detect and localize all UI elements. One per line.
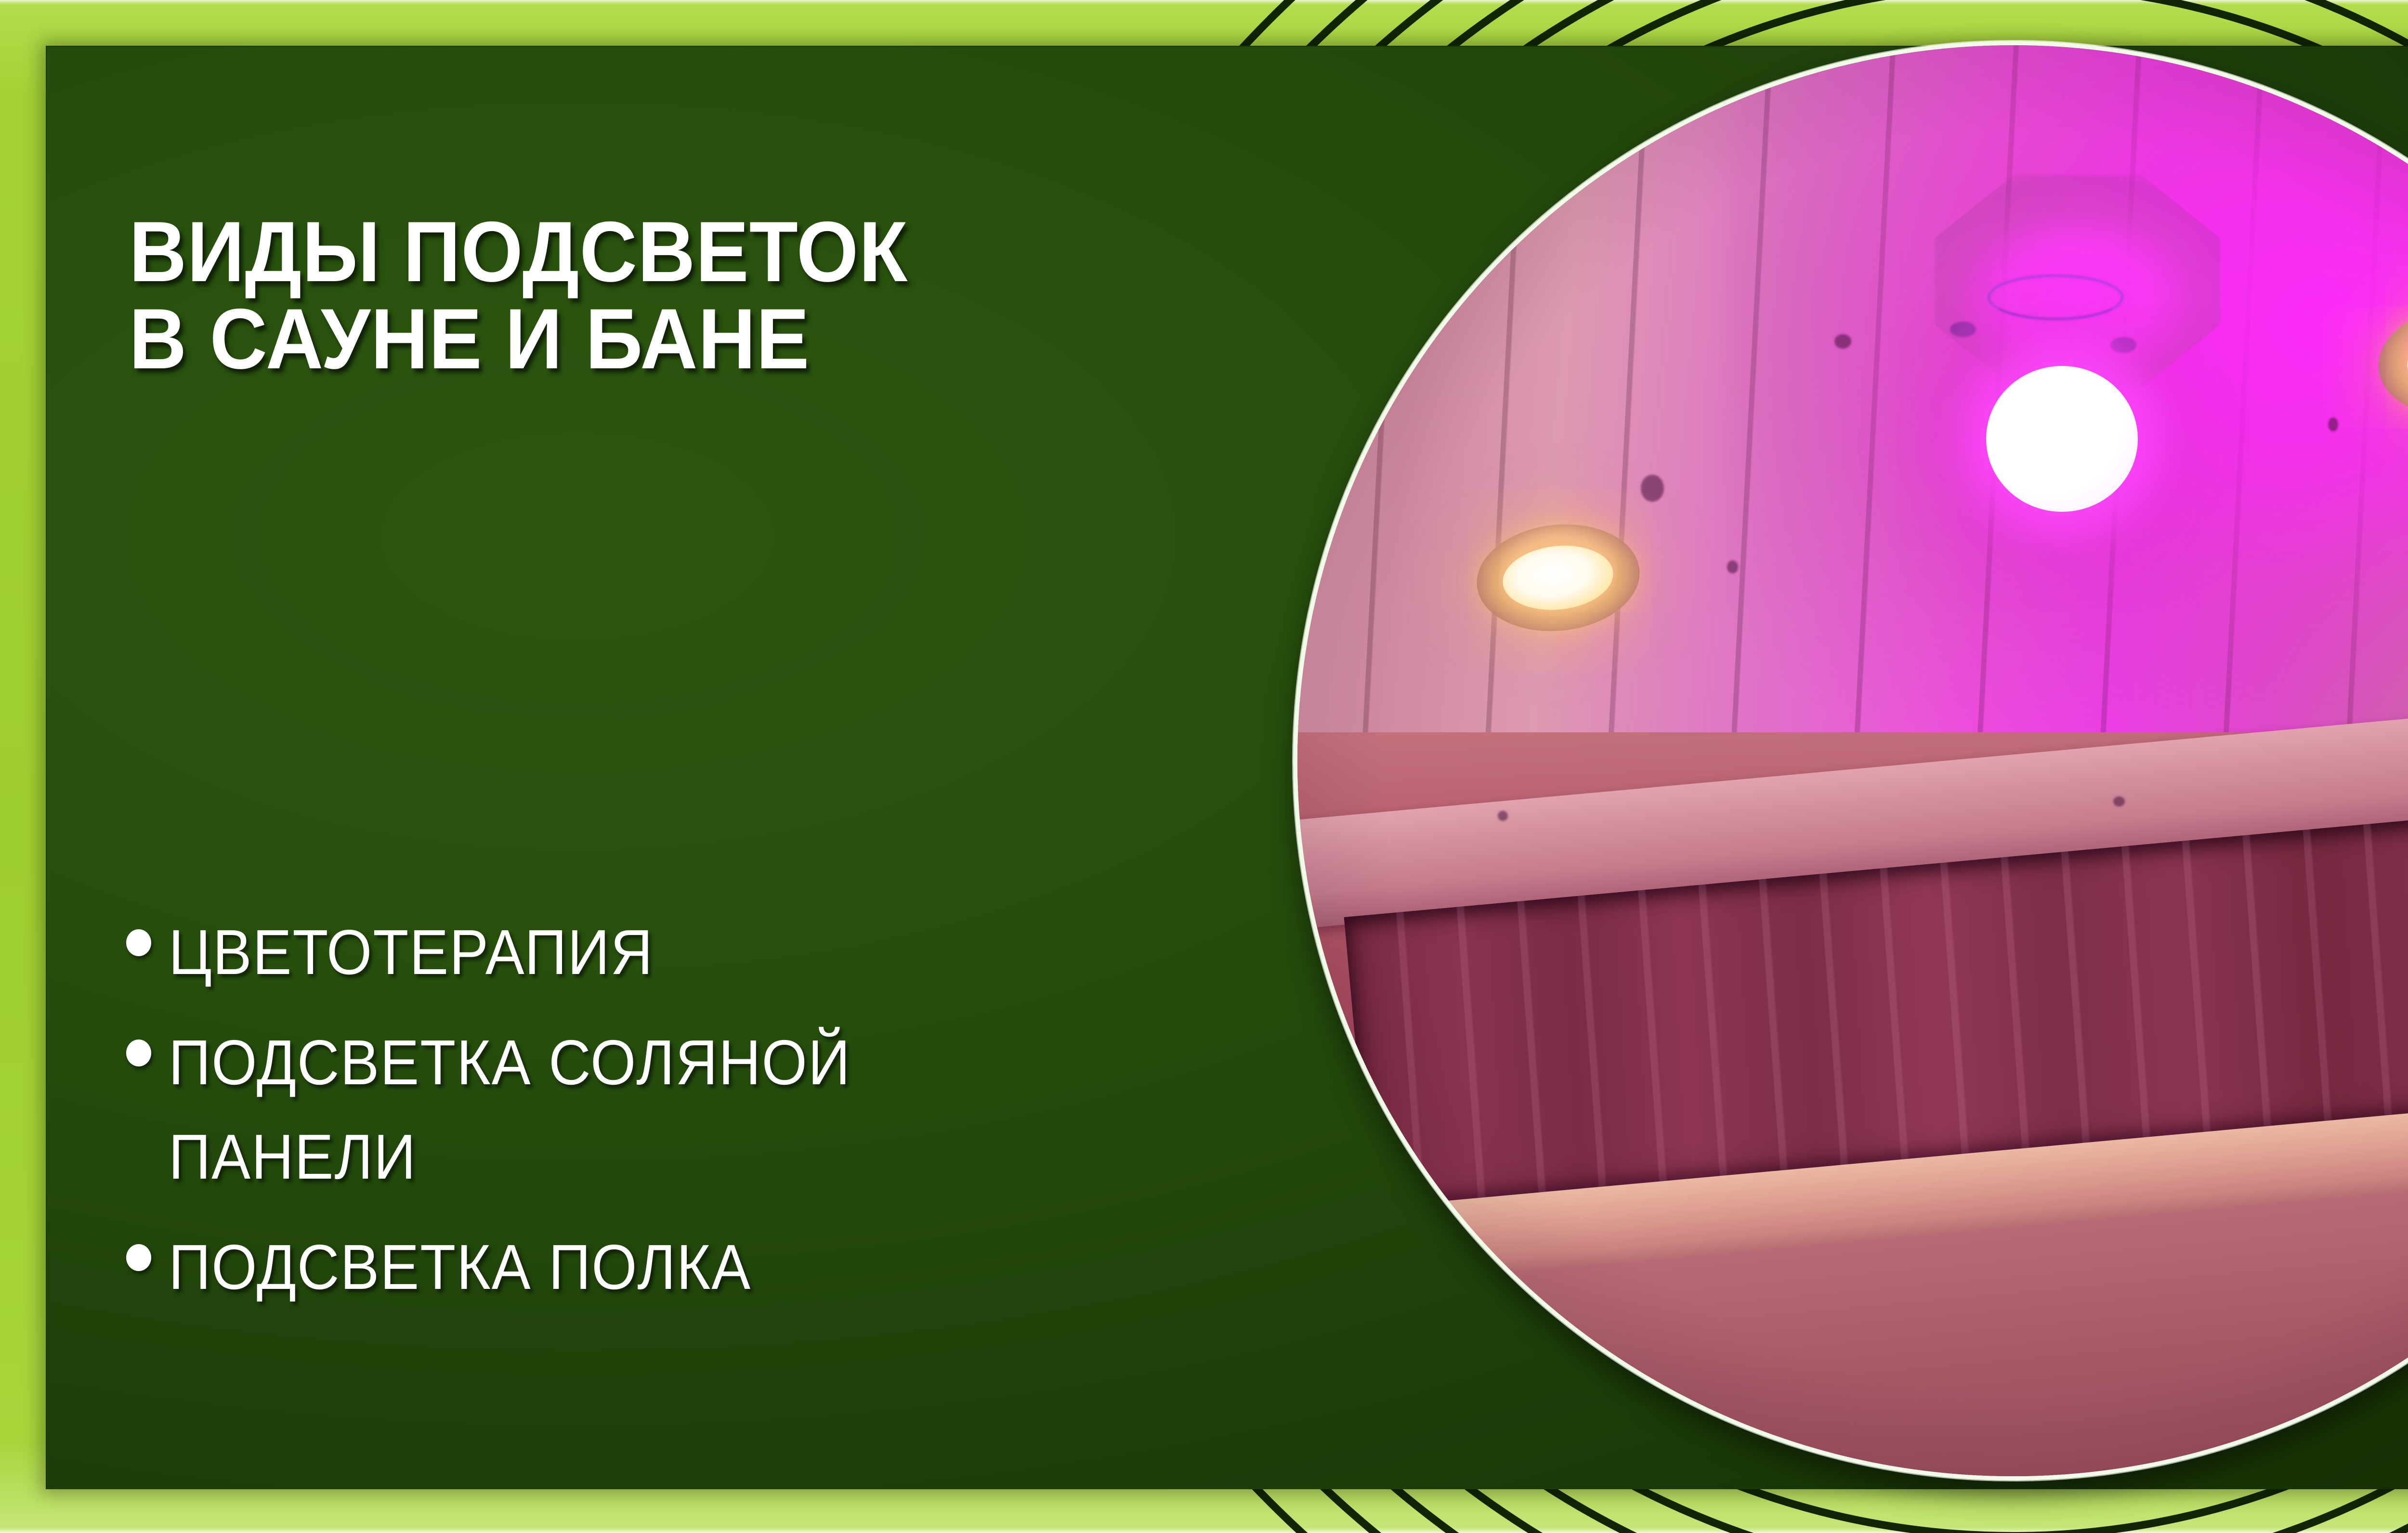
wood-knot (2328, 417, 2338, 432)
wood-knot (2113, 796, 2125, 806)
list-item-label: ПОДСВЕТКА ПОЛКА (169, 1220, 751, 1314)
bullet-dot-icon (126, 929, 151, 956)
recessed-spot-left (1477, 525, 1640, 631)
list-item-label: ПОДСВЕТКА СОЛЯНОЙ ПАНЕЛИ (169, 1015, 851, 1204)
page-title: ВИДЫ ПОДСВЕТОК В САУНЕ И БАНЕ (129, 120, 1227, 470)
spot-rim (2372, 294, 2408, 427)
wood-knot (1641, 475, 1664, 502)
ceiling-globe-light (1986, 366, 2138, 512)
fixture-screw-icon (2110, 337, 2136, 353)
wood-knot (1834, 334, 1852, 349)
title-line-2: В САУНЕ И БАНЕ (129, 295, 1227, 383)
fixture-inner-ring (1988, 274, 2123, 320)
list-item: ПОДСВЕТКА СОЛЯНОЙ ПАНЕЛИ (126, 1015, 1359, 1204)
frame-bottom-highlight (0, 1527, 2408, 1533)
bullet-dot-icon (126, 1039, 151, 1066)
sauna-photo-circle (1293, 41, 2408, 1481)
feature-list: ЦВЕТОТЕРАПИЯ ПОДСВЕТКА СОЛЯНОЙ ПАНЕЛИ ПО… (126, 905, 1359, 1330)
title-line-1: ВИДЫ ПОДСВЕТОК (129, 204, 908, 299)
frame-top-highlight (0, 0, 2408, 5)
wood-knot (1727, 560, 1739, 573)
fixture-screw-icon (1950, 322, 1976, 338)
list-item-label: ЦВЕТОТЕРАПИЯ (169, 905, 654, 999)
bullet-dot-icon (126, 1244, 151, 1271)
list-item: ПОДСВЕТКА ПОЛКА (126, 1220, 1359, 1314)
sauna-photo (1297, 45, 2408, 1476)
list-item: ЦВЕТОТЕРАПИЯ (126, 905, 1359, 999)
wood-knot (1498, 811, 1508, 821)
recessed-spot-right (2378, 303, 2408, 417)
banner-root: ВИДЫ ПОДСВЕТОК В САУНЕ И БАНЕ ЦВЕТОТЕРАП… (0, 0, 2408, 1533)
